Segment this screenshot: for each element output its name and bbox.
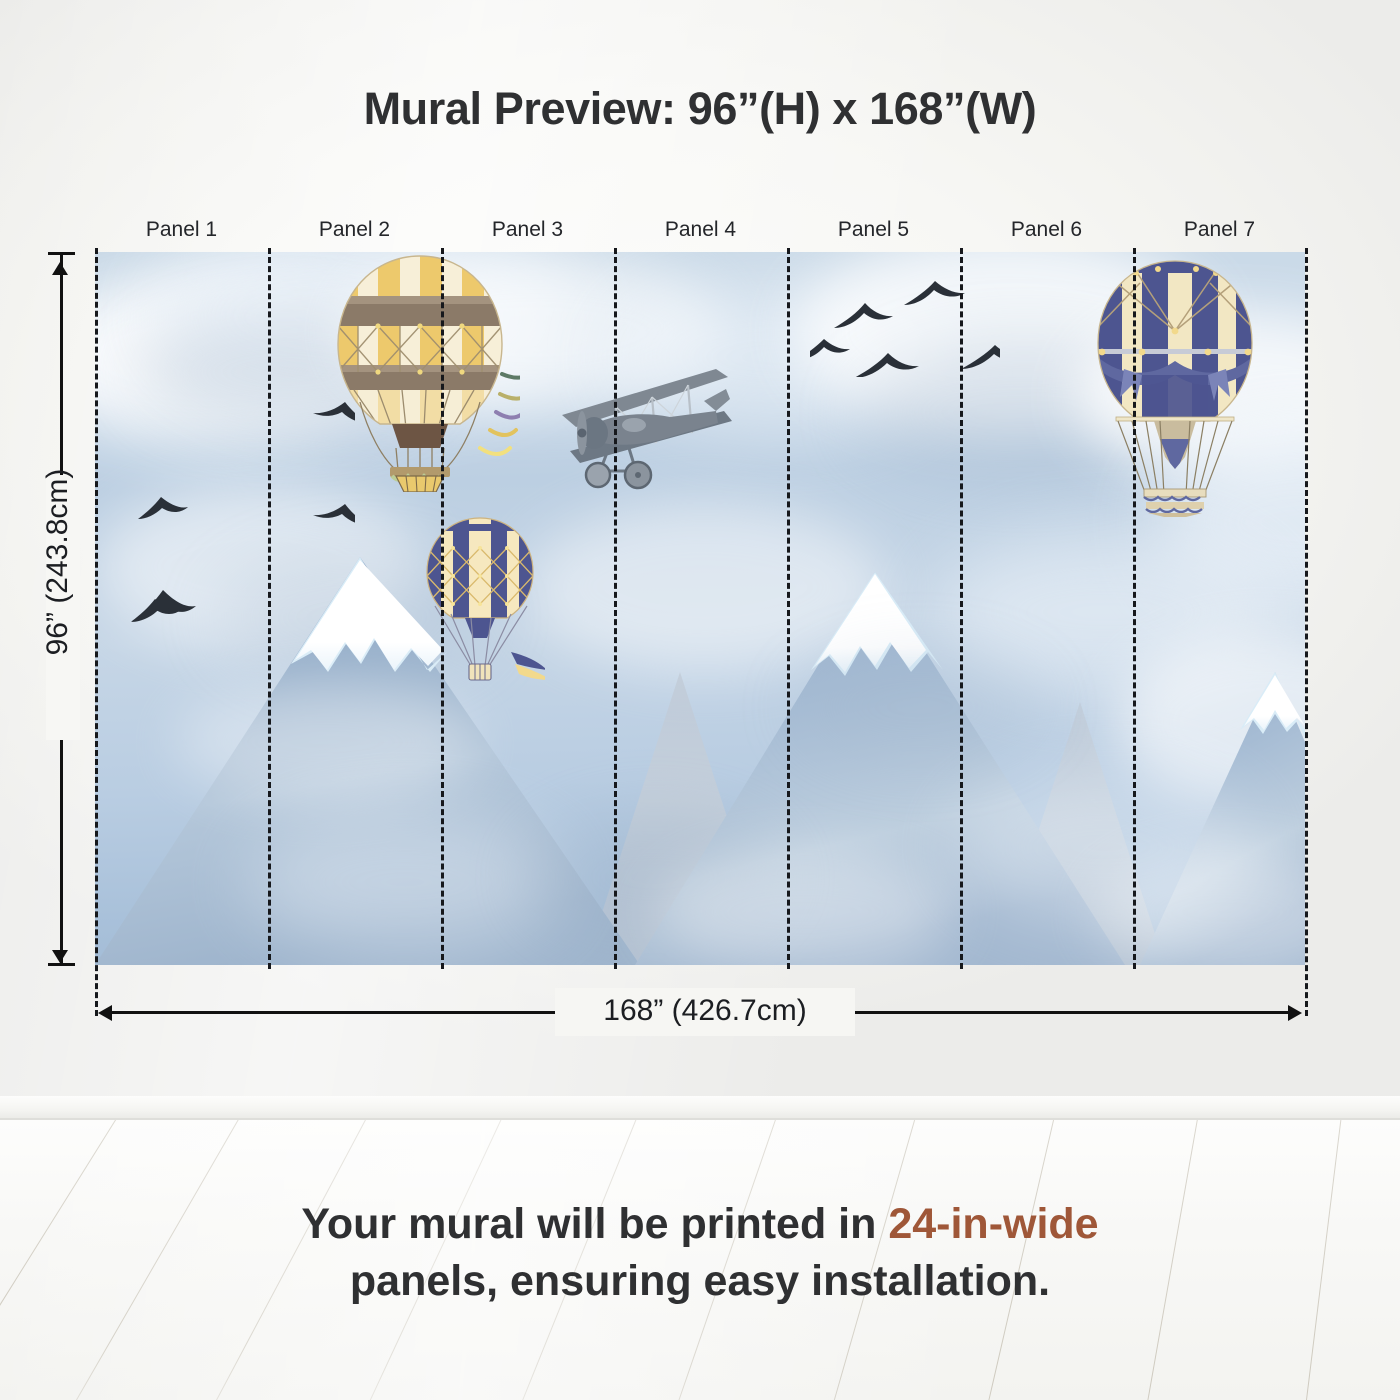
panel-label-row: Panel 1 Panel 2 Panel 3 Panel 4 Panel 5 … (95, 218, 1305, 248)
mural-artwork (95, 252, 1305, 965)
caption-line1-pre: Your mural will be printed in (301, 1200, 888, 1248)
panel-label-2: Panel 2 (268, 218, 441, 242)
panel-label-5: Panel 5 (787, 218, 960, 242)
height-dimension-label: 96” (243.8cm) (41, 432, 75, 692)
page-title: Mural Preview: 96”(H) x 168”(W) (0, 83, 1400, 135)
width-arrow-right (1288, 1005, 1302, 1021)
mural-left-edge-dash (95, 248, 98, 1016)
panel-label-3: Panel 3 (441, 218, 614, 242)
width-arrow-left (98, 1005, 112, 1021)
yellow-hot-air-balloon (320, 252, 520, 492)
biplane (520, 355, 740, 505)
panel-divider-1 (268, 248, 271, 969)
height-cap-bottom (48, 963, 75, 966)
mural-preview-page: Mural Preview: 96”(H) x 168”(W) Panel 1 … (0, 0, 1400, 1400)
mural-right-edge-dash (1305, 248, 1308, 1016)
small-navy-hot-air-balloon (415, 514, 545, 694)
footer-caption: Your mural will be printed in 24-in-wide… (130, 1196, 1270, 1310)
height-arrow-up (52, 262, 68, 275)
panel-divider-5 (960, 248, 963, 969)
height-arrow-down (52, 950, 68, 963)
panel-label-4: Panel 4 (614, 218, 787, 242)
panel-divider-6 (1133, 248, 1136, 969)
panel-divider-4 (787, 248, 790, 969)
navy-hot-air-balloon (1080, 257, 1270, 517)
panel-divider-3 (614, 248, 617, 969)
bird-flock-right (810, 267, 1000, 377)
height-cap-top (48, 252, 75, 255)
panel-label-6: Panel 6 (960, 218, 1133, 242)
panel-label-7: Panel 7 (1133, 218, 1306, 242)
width-dimension-label: 168” (426.7cm) (555, 994, 855, 1028)
bird-left-single (123, 572, 243, 662)
panel-divider-2 (441, 248, 444, 969)
caption-line2: panels, ensuring easy installation. (350, 1257, 1050, 1305)
panel-label-1: Panel 1 (95, 218, 268, 242)
caption-accent-panel-width: 24-in-wide (888, 1200, 1098, 1248)
